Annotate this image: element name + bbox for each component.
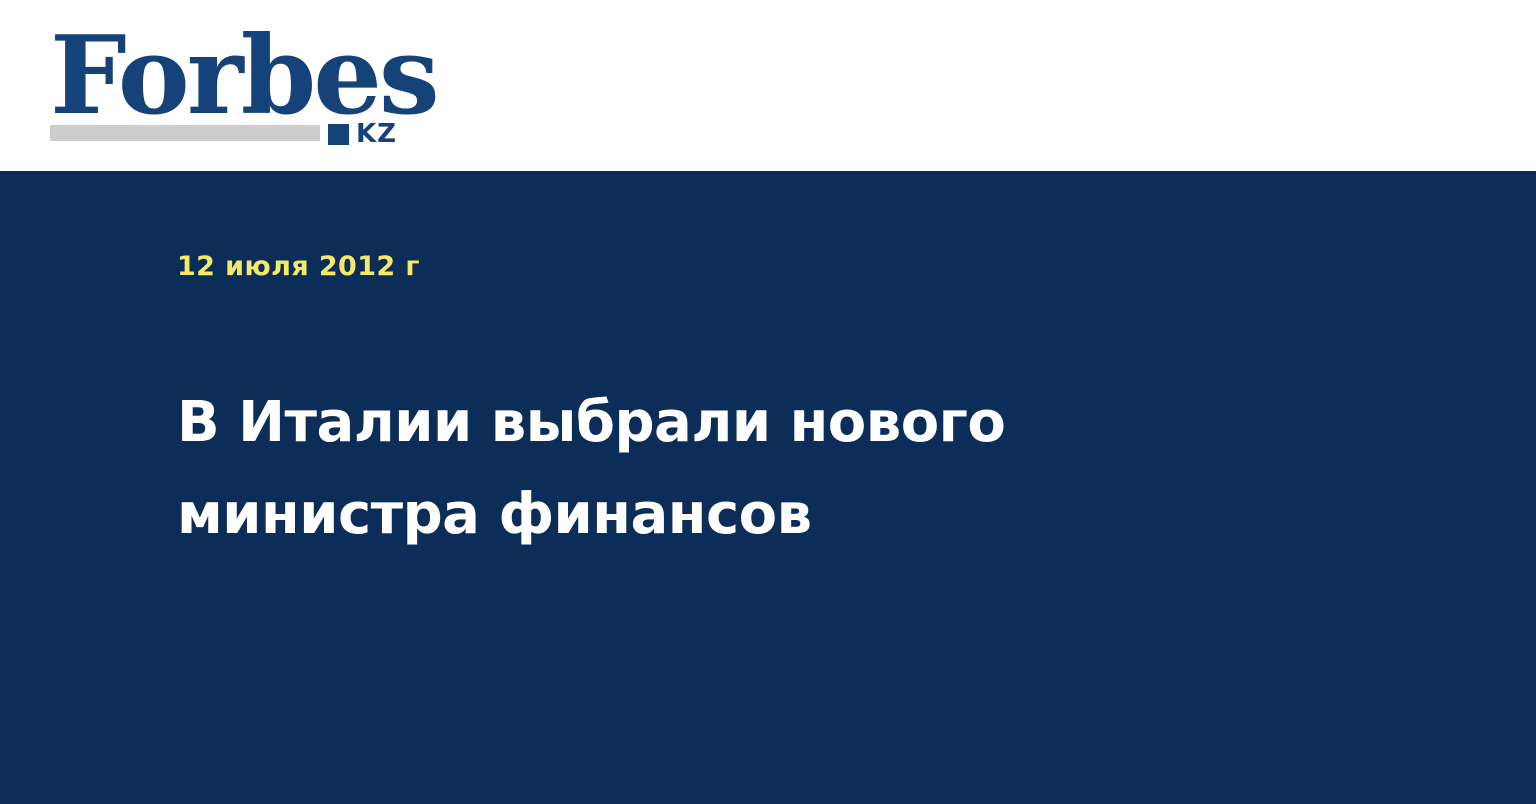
article-hero-banner: 12 июля 2012 г В Италии выбрали нового м… bbox=[0, 171, 1536, 804]
article-publish-date: 12 июля 2012 г bbox=[177, 251, 420, 283]
article-headline: В Италии выбрали нового министра финансо… bbox=[177, 377, 1117, 561]
square-icon bbox=[328, 124, 349, 145]
forbes-kz-logo[interactable]: Forbes KZ bbox=[50, 22, 410, 147]
site-header: Forbes KZ bbox=[0, 0, 1536, 171]
logo-kz-text: KZ bbox=[356, 121, 397, 147]
logo-kz-block: KZ bbox=[328, 121, 397, 147]
logo-underline-bar bbox=[50, 125, 320, 141]
logo-wordmark-text: Forbes bbox=[50, 22, 437, 130]
article-hero-page: Forbes KZ 12 июля 2012 г В Италии выбрал… bbox=[0, 0, 1536, 804]
